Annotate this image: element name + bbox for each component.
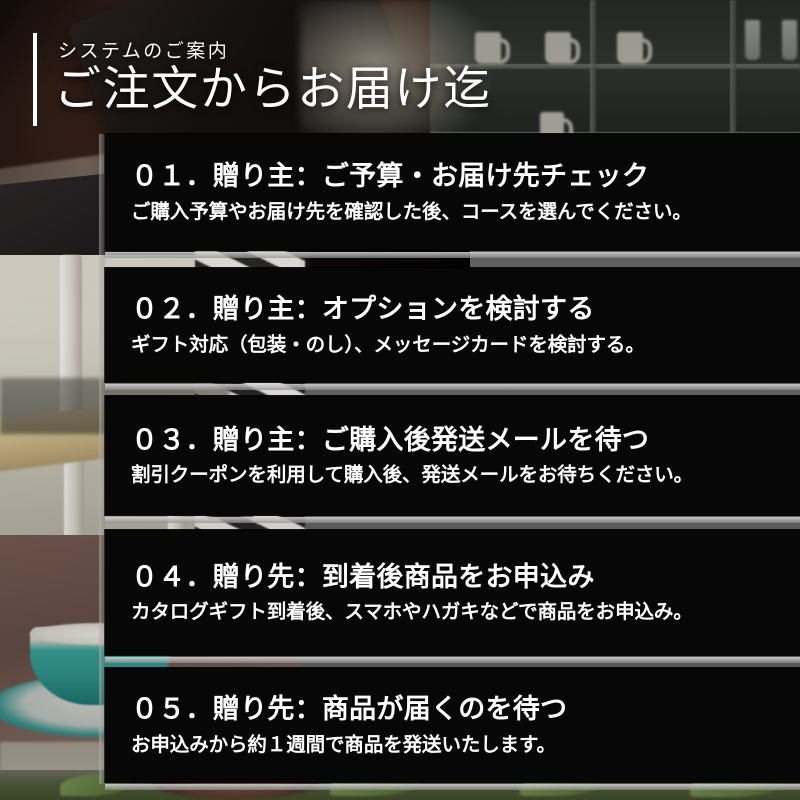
step-item-03: ０３．贈り主：ご購入後発送メールを待つ 割引クーポンを利用して購入後、発送メール… [105,396,800,515]
step-item-01: ０１．贈り主：ご予算・お届け先チェック ご購入予算やお届け先を確認した後、コース… [105,134,800,250]
step-description-03: 割引クーポンを利用して購入後、発送メールをお待ちください。 [131,463,786,487]
step-divider-4 [105,657,800,663]
step-content-03: ０３．贈り主：ご購入後発送メールを待つ 割引クーポンを利用して購入後、発送メール… [105,396,800,515]
step-description-02: ギフト対応（包装・のし）、メッセージカードを検討する。 [131,333,786,357]
step-title-05: ０５．贈り先：商品が届くのを待つ [131,693,786,725]
step-item-02: ０２．贈り主：オプションを検討する ギフト対応（包装・のし）、メッセージカードを… [105,268,800,382]
step-divider-2 [105,384,800,390]
step-item-04: ０４．贈り先：到着後商品をお申込み カタログギフト到着後、スマホやハガキなどで商… [105,530,800,655]
step-content-02: ０２．贈り主：オプションを検討する ギフト対応（包装・のし）、メッセージカードを… [105,268,800,382]
panel-left-seam [99,134,105,784]
step-divider-1 [105,252,800,258]
step-item-05: ０５．贈り先：商品が届くのを待つ お申込みから約１週間で商品を発送いたします。 [105,668,800,782]
step-title-02: ０２．贈り主：オプションを検討する [131,293,786,325]
step-content-04: ０４．贈り先：到着後商品をお申込み カタログギフト到着後、スマホやハガキなどで商… [105,530,800,655]
step-content-01: ０１．贈り主：ご予算・お届け先チェック ご購入予算やお届け先を確認した後、コース… [105,134,800,250]
step-divider-5 [105,784,800,790]
step-title-04: ０４．贈り先：到着後商品をお申込み [131,561,786,593]
step-title-03: ０３．贈り主：ご購入後発送メールを待つ [131,424,786,456]
step-description-04: カタログギフト到着後、スマホやハガキなどで商品をお申込み。 [131,600,786,624]
step-title-01: ０１．贈り主：ご予算・お届け先チェック [131,160,786,192]
step-divider-3 [105,517,800,523]
step-description-01: ご購入予算やお届け先を確認した後、コースを選んでください。 [131,200,786,224]
step-content-05: ０５．贈り先：商品が届くのを待つ お申込みから約１週間で商品を発送いたします。 [105,668,800,782]
steps-list: ０１．贈り主：ご予算・お届け先チェック ご購入予算やお届け先を確認した後、コース… [0,0,800,800]
step-description-05: お申込みから約１週間で商品を発送いたします。 [131,733,786,757]
